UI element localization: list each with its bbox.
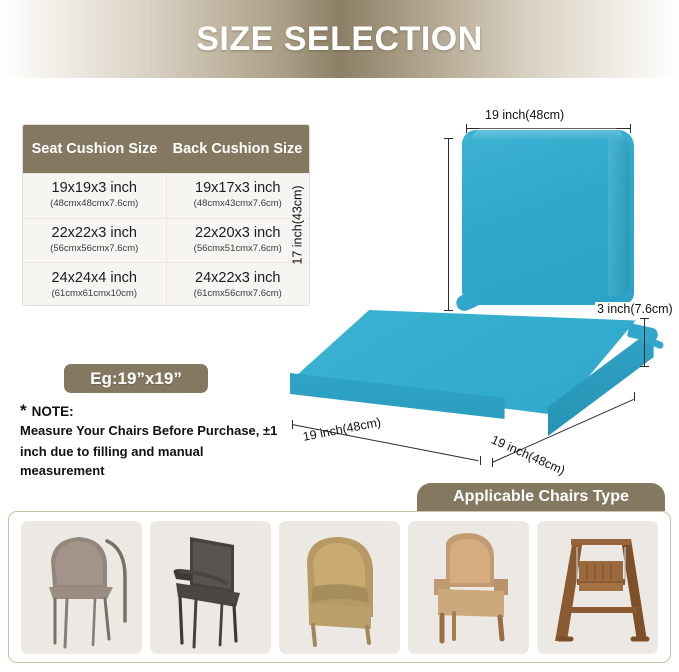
chair-card-armless-wicker-stacking-chair[interactable]: [21, 521, 142, 654]
chair-card-dark-wicker-arm-chair[interactable]: [150, 521, 271, 654]
dim-cap-left: [292, 420, 293, 429]
dim-line-back-height: [448, 138, 449, 310]
infographic-page: SIZE SELECTION Seat Cushion Size Back Cu…: [0, 0, 679, 672]
table-row: 24x24x4 inch (61cmx61cmx10cm) 24x22x3 in…: [23, 262, 309, 306]
dim-label-seat-depth: 19 inch(48cm): [489, 433, 567, 478]
dim-cap-top: [640, 318, 649, 319]
dim-cap-top: [444, 138, 453, 139]
note-section: * NOTE: Measure Your Chairs Before Purch…: [20, 402, 290, 480]
asterisk-icon: *: [20, 402, 27, 419]
column-header-seat: Seat Cushion Size: [23, 125, 166, 173]
back-cushion-pillow: [462, 130, 634, 305]
dim-cap-right: [630, 124, 631, 133]
table-row: 19x19x3 inch (48cmx48cmx7.6cm) 19x17x3 i…: [23, 173, 309, 218]
seat-size-cm: (48cmx48cmx7.6cm): [50, 198, 138, 210]
chair-card-wooden-porch-swing[interactable]: [537, 521, 658, 654]
dim-cap-bottom: [444, 310, 453, 311]
table-row: 22x22x3 inch (56cmx56cmx7.6cm) 22x20x3 i…: [23, 218, 309, 263]
seat-size-cm: (56cmx56cmx7.6cm): [50, 243, 138, 255]
dim-cap-right: [480, 456, 481, 465]
size-table: Seat Cushion Size Back Cushion Size 19x1…: [22, 124, 310, 306]
header-banner: SIZE SELECTION: [0, 0, 679, 78]
dim-cap-right: [634, 392, 635, 401]
dim-line-thickness: [644, 318, 645, 366]
note-line-1: Measure Your Chairs Before Purchase, ±1: [20, 422, 290, 440]
example-size-badge: Eg:19”x19”: [64, 364, 208, 393]
dim-label-back-height: 17 inch(43cm): [291, 185, 305, 264]
seat-size-inch: 19x19x3 inch: [52, 181, 137, 197]
note-label: NOTE:: [32, 404, 74, 419]
pillow-tie: [454, 289, 484, 314]
dim-cap-bottom: [640, 366, 649, 367]
cell-seat-size: 24x24x4 inch (61cmx61cmx10cm): [23, 263, 166, 306]
applicable-chairs-tab: Applicable Chairs Type: [417, 483, 665, 511]
dim-cap-left: [492, 458, 493, 467]
back-size-cm: (56cmx51cmx7.6cm): [194, 243, 282, 255]
cushion-illustration: 19 inch(48cm) 17 inch(43cm) 3 inch(7.6cm…: [280, 100, 679, 490]
dim-label-thickness: 3 inch(7.6cm): [595, 302, 675, 316]
dim-label-back-width: 19 inch(48cm): [485, 108, 564, 122]
back-size-cm: (48cmx43cmx7.6cm): [194, 198, 282, 210]
back-size-inch: 19x17x3 inch: [195, 181, 280, 197]
note-line-2: inch due to filling and manual measureme…: [20, 443, 290, 480]
note-heading: * NOTE:: [20, 402, 290, 419]
table-header-row: Seat Cushion Size Back Cushion Size: [23, 125, 309, 173]
seat-size-inch: 22x22x3 inch: [52, 226, 137, 242]
page-title: SIZE SELECTION: [196, 20, 483, 59]
seat-size-inch: 24x24x4 inch: [52, 271, 137, 287]
back-size-cm: (61cmx56cmx7.6cm): [194, 288, 282, 300]
cell-seat-size: 19x19x3 inch (48cmx48cmx7.6cm): [23, 174, 166, 218]
chairs-gallery: [8, 511, 671, 663]
back-size-inch: 24x22x3 inch: [195, 271, 280, 287]
chair-card-natural-rattan-arm-chair[interactable]: [408, 521, 529, 654]
chair-card-tan-wicker-barrel-chair[interactable]: [279, 521, 400, 654]
cell-seat-size: 22x22x3 inch (56cmx56cmx7.6cm): [23, 219, 166, 263]
back-size-inch: 22x20x3 inch: [195, 226, 280, 242]
seat-size-cm: (61cmx61cmx10cm): [51, 288, 137, 300]
